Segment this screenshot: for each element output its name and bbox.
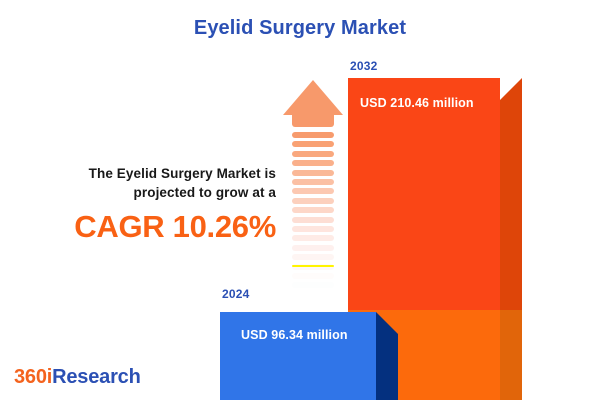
arrow-stripe xyxy=(292,273,334,279)
arrow-stripe xyxy=(292,160,334,166)
arrow-stripe xyxy=(292,188,334,194)
logo-text-research: Research xyxy=(52,366,140,388)
arrow-stripe xyxy=(292,207,334,213)
bar-2032-side-lower xyxy=(500,310,522,400)
cagr-value: CAGR 10.26% xyxy=(28,210,276,244)
growth-arrow-icon xyxy=(283,80,343,292)
arrow-neck xyxy=(292,113,334,127)
bar-2032-side-upper xyxy=(500,78,522,310)
arrow-head-icon xyxy=(283,80,343,115)
arrow-stripe xyxy=(292,226,334,232)
statement-line-1: The Eyelid Surgery Market is xyxy=(28,164,276,183)
infographic-canvas: Eyelid Surgery Market 2032 USD 210.46 mi… xyxy=(0,0,600,400)
arrow-stripe xyxy=(292,151,334,157)
statement-line-2: projected to grow at a xyxy=(28,183,276,202)
arrow-stripe xyxy=(292,141,334,147)
arrow-stripe xyxy=(292,245,334,251)
arrow-stripe-accent xyxy=(292,265,334,267)
bar-2032-front-upper xyxy=(348,78,500,310)
arrow-stripe xyxy=(292,198,334,204)
bar-label-2024: 2024 xyxy=(222,287,250,301)
bar-value-2032: USD 210.46 million xyxy=(360,96,474,110)
bar-label-2032: 2032 xyxy=(350,59,378,73)
arrow-stripe xyxy=(292,179,334,185)
arrow-stripe xyxy=(292,132,334,138)
cagr-statement: The Eyelid Surgery Market is projected t… xyxy=(28,164,276,244)
logo-text-360i: 360i xyxy=(14,366,52,388)
arrow-stripe xyxy=(292,217,334,223)
arrow-stripe xyxy=(292,170,334,176)
arrow-shaft-stripes xyxy=(292,132,334,292)
brand-logo: 360iResearch xyxy=(14,366,141,389)
bar-value-2024: USD 96.34 million xyxy=(241,328,348,342)
arrow-stripe xyxy=(292,254,334,260)
arrow-stripe xyxy=(292,235,334,241)
arrow-stripe xyxy=(292,282,334,288)
bar-2024-front xyxy=(220,312,376,400)
